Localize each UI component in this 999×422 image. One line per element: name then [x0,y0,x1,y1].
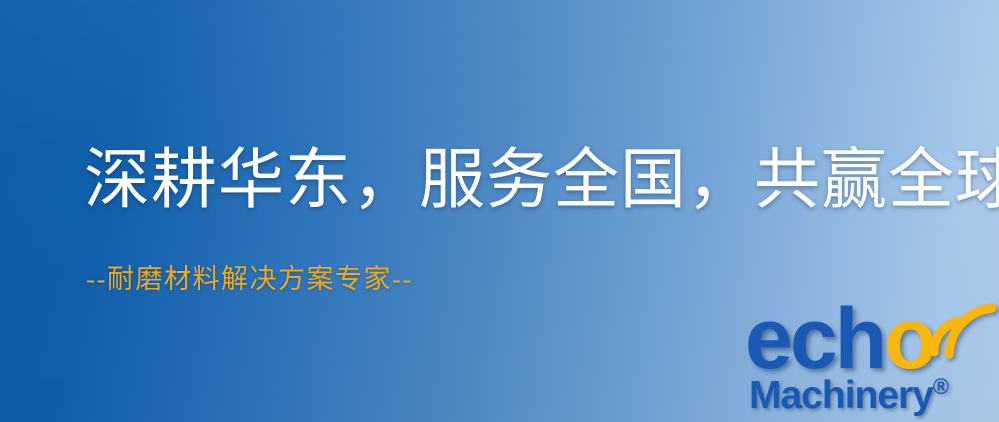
logo-word-secondary: Machinery [749,374,933,417]
logo-word-accent: o [884,291,934,387]
page-title: 深耕华东，服务全国，共赢全球 [84,148,999,214]
logo-wordmark: echo [745,296,934,382]
logo-word-secondary-group: Machinery® [749,376,949,415]
registered-trademark-icon: ® [933,374,949,399]
logo-word-primary: ech [745,291,884,387]
promo-banner: 深耕华东，服务全国，共赢全球 --耐磨材料解决方案专家-- echo Machi… [0,0,999,422]
page-subtitle: --耐磨材料解决方案专家-- [86,266,413,293]
company-logo[interactable]: echo Machinery® [745,296,999,422]
signal-waves-icon [928,294,999,358]
headline-block: 深耕华东，服务全国，共赢全球 [84,148,999,214]
